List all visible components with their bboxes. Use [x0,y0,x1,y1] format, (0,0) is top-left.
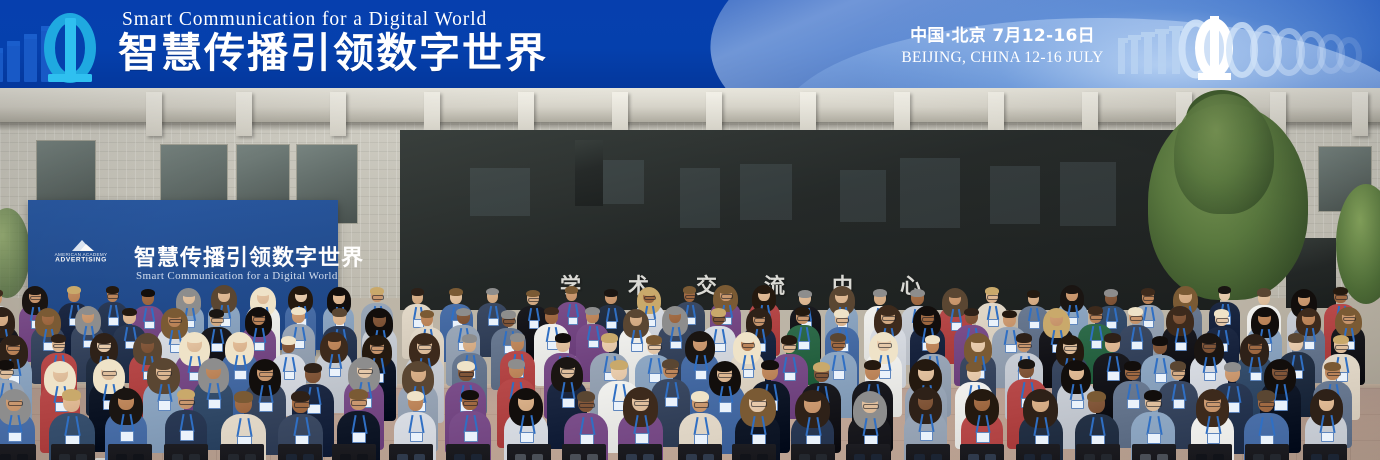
attendee-hair-top [683,286,697,294]
front-row-chair [220,444,264,460]
attendee-glasses [418,345,432,350]
attendee-leg [799,454,810,460]
attendee-leg [303,454,314,460]
attendee-glasses [179,400,194,405]
attendee-hair-top [141,289,155,297]
attendee-hair-top [41,309,55,317]
attendee-hair-top [719,286,733,294]
building-canopy [0,88,1380,122]
attendee-glasses [1090,315,1103,320]
attendee-leg [757,454,768,460]
attendee-glasses [1143,296,1155,300]
attendee-badge [1147,433,1161,444]
attendee-glasses [1126,372,1140,377]
conference-group-photo: 学 术 交 流 中 心 AMERICAN ACADEMY ADVERTISING… [0,88,1380,460]
attendee-leg [703,454,714,460]
attendee-glasses [797,316,810,321]
attendee-hair-top [1257,390,1276,401]
attendee-hair-top [948,289,962,297]
attendee-badge [694,434,708,445]
attendee-badge [352,432,366,443]
attendee-hair-top [646,335,662,345]
attendee-hair-top [757,286,771,294]
attendee-hair-top [864,360,881,370]
attendee-hair-top [461,390,479,401]
attendee-hair-top [1170,361,1187,371]
american-academy-advertising-logo: AMERICAN ACADEMY ADVERTISING [44,238,118,262]
attendee-hair-top [1016,333,1032,343]
attendee-hair-top [167,309,182,318]
attendee-hair-top [985,287,999,295]
attendee-hair-top [28,287,42,295]
attendee-glasses [351,400,367,405]
attendee-glasses [253,317,266,322]
attendee-glasses [1203,344,1217,349]
attendee-leg [570,454,581,460]
attendee-leg [1101,454,1112,460]
attendee-glasses [0,370,14,375]
attendee-hair-top [1203,391,1221,402]
front-row-chair [278,444,322,460]
attendee-hair-top [526,290,540,298]
attendee-hair-top [834,309,849,318]
attendee-hair-top [281,336,296,345]
attendee-hair-top [1257,308,1272,317]
attendee-hair-top [880,306,895,315]
glass-reflection [840,170,886,222]
attendee-hair-top [234,391,253,402]
conference-io-logo [0,8,114,86]
attendee-hair-top [1324,362,1340,372]
attendee-hair-top [1027,290,1041,298]
attendee-hair-top [964,308,979,317]
attendee-hair-top [565,286,579,294]
attendee-hair-top [798,290,812,298]
attendee-glasses [665,369,679,374]
front-row-chair [1245,444,1289,460]
attendee-hair-top [5,336,22,346]
attendee-glasses [1018,344,1032,349]
attendee-glasses [694,402,710,407]
attendee-leg [1084,454,1095,460]
attendee-hair-top [62,389,81,401]
glass-mullion [575,140,603,206]
attendee-leg [1140,454,1151,460]
attendee-hair-top [642,288,656,296]
attendee-hair-top [861,392,879,403]
attendee-glasses [634,401,650,406]
attendee-glasses [815,373,830,378]
attendee-hair-top [182,289,196,297]
attendee-glasses [98,344,111,349]
attendee-hair-top [966,362,982,372]
attendee-glasses [1064,346,1077,351]
attendee-hair-top [1062,336,1078,345]
attendee-leg [914,454,925,460]
attendee-glasses [169,319,182,324]
attendee-glasses [754,318,767,323]
attendee-hair-top [462,334,477,343]
attendee-hair-top [601,333,618,343]
attendee-glasses [718,373,733,378]
attendee-leg [532,454,543,460]
attendee-hair-top [256,361,274,371]
backdrop-headline-english: Smart Communication for a Digital World [136,270,338,282]
attendee-hair-top [96,335,111,344]
front-row-chair [389,444,433,460]
attendee-hair-top [291,307,306,316]
attendee-hair-top [716,362,733,372]
attendee-hair-top [1031,391,1050,402]
attendee-hair-top [209,309,224,318]
attendee-hair-top [140,335,156,344]
attendee-hair-top [925,335,941,344]
attendee-hair-top [910,289,925,297]
attendee-hair-top [830,333,846,342]
glass-reflection [900,158,960,228]
attendee-hair-top [186,333,203,343]
attendee-glasses [1206,402,1222,407]
front-row-chair [507,444,551,460]
attendee-hair-top [577,391,595,402]
front-row-chair [846,444,890,460]
attendee-hair-top [420,310,435,318]
attendee-hair-top [740,334,755,343]
attendee-glasses [721,294,733,298]
attendee-hair-top [1178,287,1192,295]
attendee-leg [286,454,297,460]
attendee-hair-top [1224,362,1241,372]
attendee-leg [1270,454,1281,460]
attendee-leg [515,454,526,460]
attendee-hair-top [372,309,387,318]
attendee-leg [357,454,368,460]
attendee-hair-top [51,334,66,343]
attendee-glasses [1335,295,1347,300]
glass-reflection [680,168,720,228]
attendee-hair-top [1049,309,1064,318]
attendee-glasses [882,316,895,321]
attendee-hair-top [349,389,367,400]
attendee-hair-top [1247,336,1263,345]
attendee-hair-top [81,307,95,315]
attendee-leg [172,454,183,460]
attendee-glasses [836,318,849,323]
attendee-hair-top [1201,334,1217,344]
attendee-glasses [503,319,516,324]
attendee-hair-top [407,391,425,402]
attendee-glasses [528,298,540,302]
attendee-glasses [1249,345,1263,350]
attendee-leg [1328,454,1339,460]
front-row-chair [164,444,208,460]
attendee-hair-top [1257,288,1272,296]
front-row-chair [618,444,662,460]
attendee-glasses [713,317,726,322]
attendee-hair-top [1018,359,1035,369]
attendee-glasses [1259,402,1275,407]
attendee-hair-top [1065,286,1079,294]
attendee-badge [920,431,934,441]
binary-motif-decoration [1118,16,1368,82]
attendee-glasses [579,403,595,408]
attendee-hair-top [100,360,117,370]
attendee-hair-top [205,359,222,369]
attendee-glasses [7,346,21,351]
attendee-hair-top [517,389,535,400]
attendee-glasses [987,295,999,299]
attendee-badge [8,432,22,442]
attendee-hair-top [604,289,618,297]
attendee-hair-top [294,287,308,295]
attendee-glasses [358,369,373,374]
attendee-badge [120,431,134,441]
banner-title-block: Smart Communication for a Digital World … [118,4,558,75]
attendee-leg [116,454,127,460]
attendee-hair-top [1341,308,1356,317]
attendee-badge [665,397,678,407]
attendee-hair-top [631,389,650,400]
attendee-hair-top [0,289,3,297]
attendee-hair-top [834,287,849,295]
conference-banner-page: Smart Communication for a Digital World … [0,0,1380,460]
attendee-leg [228,454,239,460]
attendee-leg [1213,454,1224,460]
attendee-leg [985,454,996,460]
event-header-banner: Smart Communication for a Digital World … [0,0,1380,88]
attendee-glasses [832,343,846,348]
attendee-leg [189,454,200,460]
attendee-hair-top [920,308,935,317]
attendee-hair-top [456,308,471,317]
attendee-leg [968,454,979,460]
attendee-hair-top [610,360,627,370]
attendee-leg [854,454,865,460]
front-row-chair [960,444,1004,460]
attendee-glasses [783,345,797,350]
attendee-leg [686,454,697,460]
attendee-hair-top [486,288,500,296]
attendee-hair-top [873,289,887,297]
banner-date-block: 中国·北京 7月12-16日 BEIJING, CHINA 12-16 JULY [880,26,1125,68]
attendee-glasses [1130,316,1143,321]
attendee-badge [410,432,424,442]
attendee-hair-top [711,308,726,317]
attendee-hair-top [5,390,23,401]
attendee-hair-top [106,286,120,294]
front-row-chair [1076,444,1120,460]
attendee-glasses [30,296,42,301]
attendee-hair-top [67,286,81,294]
attendee-hair-top [692,332,708,342]
attendee-hair-top [752,309,767,318]
attendee-hair-top [973,390,991,401]
attendee-glasses [561,369,576,374]
attendee-hair-top [510,333,525,342]
front-row-chair [791,444,835,460]
front-row-chair [906,444,950,460]
attendee-hair-top [1301,309,1315,317]
front-row-chair [1132,444,1176,460]
attendee-hair-top [304,363,322,374]
attendee-hair-top [668,307,683,316]
attendee-hair-top [411,288,425,296]
glass-reflection [990,166,1040,224]
attendee-leg [643,454,654,460]
attendee-hair-top [52,362,69,372]
attendee-glasses [1327,372,1341,377]
attendee-leg [471,454,482,460]
attendee-hair-top [251,308,266,317]
attendee-hair-top [332,289,346,297]
attendee-hair-top [803,391,821,402]
attendee-hair-top [410,362,427,372]
attendee-hair-top [370,287,384,295]
attendee-hair-top [1333,287,1347,295]
attendee-badge [635,433,649,444]
attendee-leg [816,454,827,460]
attendee-leg [59,454,70,460]
attendee-hair-top [232,333,248,342]
attendee-hair-top [1172,307,1187,316]
attendee-badge [1321,432,1334,442]
attendee-leg [1311,454,1322,460]
banner-tagline-english: Smart Communication for a Digital World [122,10,558,30]
attendee-leg [454,454,465,460]
front-row-chair [108,444,152,460]
attendee-hair-top [813,362,830,372]
attendee-hair-top [0,360,14,370]
attendee-hair-top [917,389,935,400]
attendee-hair-top [508,359,525,369]
attendee-hair-top [1104,289,1118,297]
attendee-hair-top [1124,361,1140,371]
front-row-chair [1303,444,1347,460]
attendee-hair-top [585,307,599,315]
attendee-hair-top [1002,310,1017,319]
attendee-glasses [1172,371,1186,376]
attendee-glasses [294,402,310,407]
attendee-badge [1207,433,1221,444]
attendee-leg [1253,454,1264,460]
attendee-leg [1041,454,1052,460]
attendee-leg [17,454,28,460]
attendee-leg [397,454,408,460]
attendee-hair-top [122,308,137,316]
attendee-glasses [157,371,172,376]
attendee-glasses [107,294,119,298]
attendee-hair-top [1141,288,1155,296]
attendee-hair-top [876,333,892,342]
svg-text:ADVERTISING: ADVERTISING [55,256,107,262]
attendee-badge [180,430,194,440]
attendee-glasses [102,371,117,376]
attendee-hair-top [369,336,385,345]
attendee-glasses [644,296,656,300]
attendee-hair-top [544,307,559,316]
attendee-leg [1157,454,1168,460]
front-row-chair [1016,444,1060,460]
glass-reflection [470,168,530,216]
attendee-hair-top [970,334,986,343]
attendee-hair-top [1087,391,1106,402]
attendee-leg [931,454,942,460]
banner-date-chinese: 中国·北京 7月12-16日 [880,26,1125,47]
attendee-glasses [1274,371,1289,376]
attendee-glasses [1335,345,1349,350]
attendee-glasses [371,346,385,351]
attendee-glasses [463,401,478,406]
attendee-hair-top [1297,290,1311,298]
attendee-hair-top [291,391,310,402]
attendee-hair-top [795,307,810,316]
attendee-hair-top [155,360,172,370]
glass-reflection [740,164,792,220]
attendee-leg [626,454,637,460]
attendee-hair-top [327,333,342,342]
attendee-leg [245,454,256,460]
attendee-hair-top [177,389,195,400]
attendee-hair-top [1152,336,1168,345]
attendee-glasses [1343,317,1356,322]
attendee-glasses [1146,401,1162,406]
front-row-chair [1188,444,1232,460]
attendee-hair-top [217,286,231,294]
attendee-hair-top [1104,333,1120,343]
attendee-hair-top [1288,333,1304,342]
attendee-hair-top [629,310,644,318]
attendee-hair-top [1271,360,1288,370]
attendee-glasses [742,343,755,348]
front-row-chair [332,444,376,460]
attendee-hair-top [761,360,778,370]
attendee-leg [133,454,144,460]
attendee-hair-top [1214,309,1229,318]
attendee-hair-top [1318,390,1336,401]
attendee-hair-top [662,359,679,369]
banner-tagline-chinese: 智慧传播引领数字世界 [118,32,558,75]
attendee-glasses [922,317,935,322]
attendee-glasses [211,318,224,323]
glass-reflection [600,160,644,204]
front-row-chair [732,444,776,460]
attendee-hair-top [457,361,474,371]
attendee-hair-top [501,310,516,319]
attendee-glasses [878,343,892,348]
attendee-glasses [1216,318,1229,323]
front-row-chair [562,444,606,460]
attendee-leg [340,454,351,460]
attendee-glasses [8,401,23,406]
attendee-hair-top [356,359,373,369]
attendee-glasses [259,372,274,377]
banner-date-english: BEIJING, CHINA 12-16 JULY [880,48,1125,68]
attendee-hair-top [691,391,709,402]
backdrop-headline-chinese: 智慧传播引领数字世界 [134,240,364,272]
attendee-hair-top [1088,306,1103,315]
attendee-hair-top [917,360,935,371]
canopy-beam [330,92,346,136]
attendee-glasses [372,295,384,299]
attendee-leg [1196,454,1207,460]
front-row-chair [446,444,490,460]
attendee-badge [520,432,534,443]
glass-reflection [1060,162,1116,226]
evergreen-tree-upper [1174,94,1274,214]
attendee-glasses [459,372,474,377]
attendee-hair-top [555,333,571,343]
attendee-hair-top [332,308,347,317]
